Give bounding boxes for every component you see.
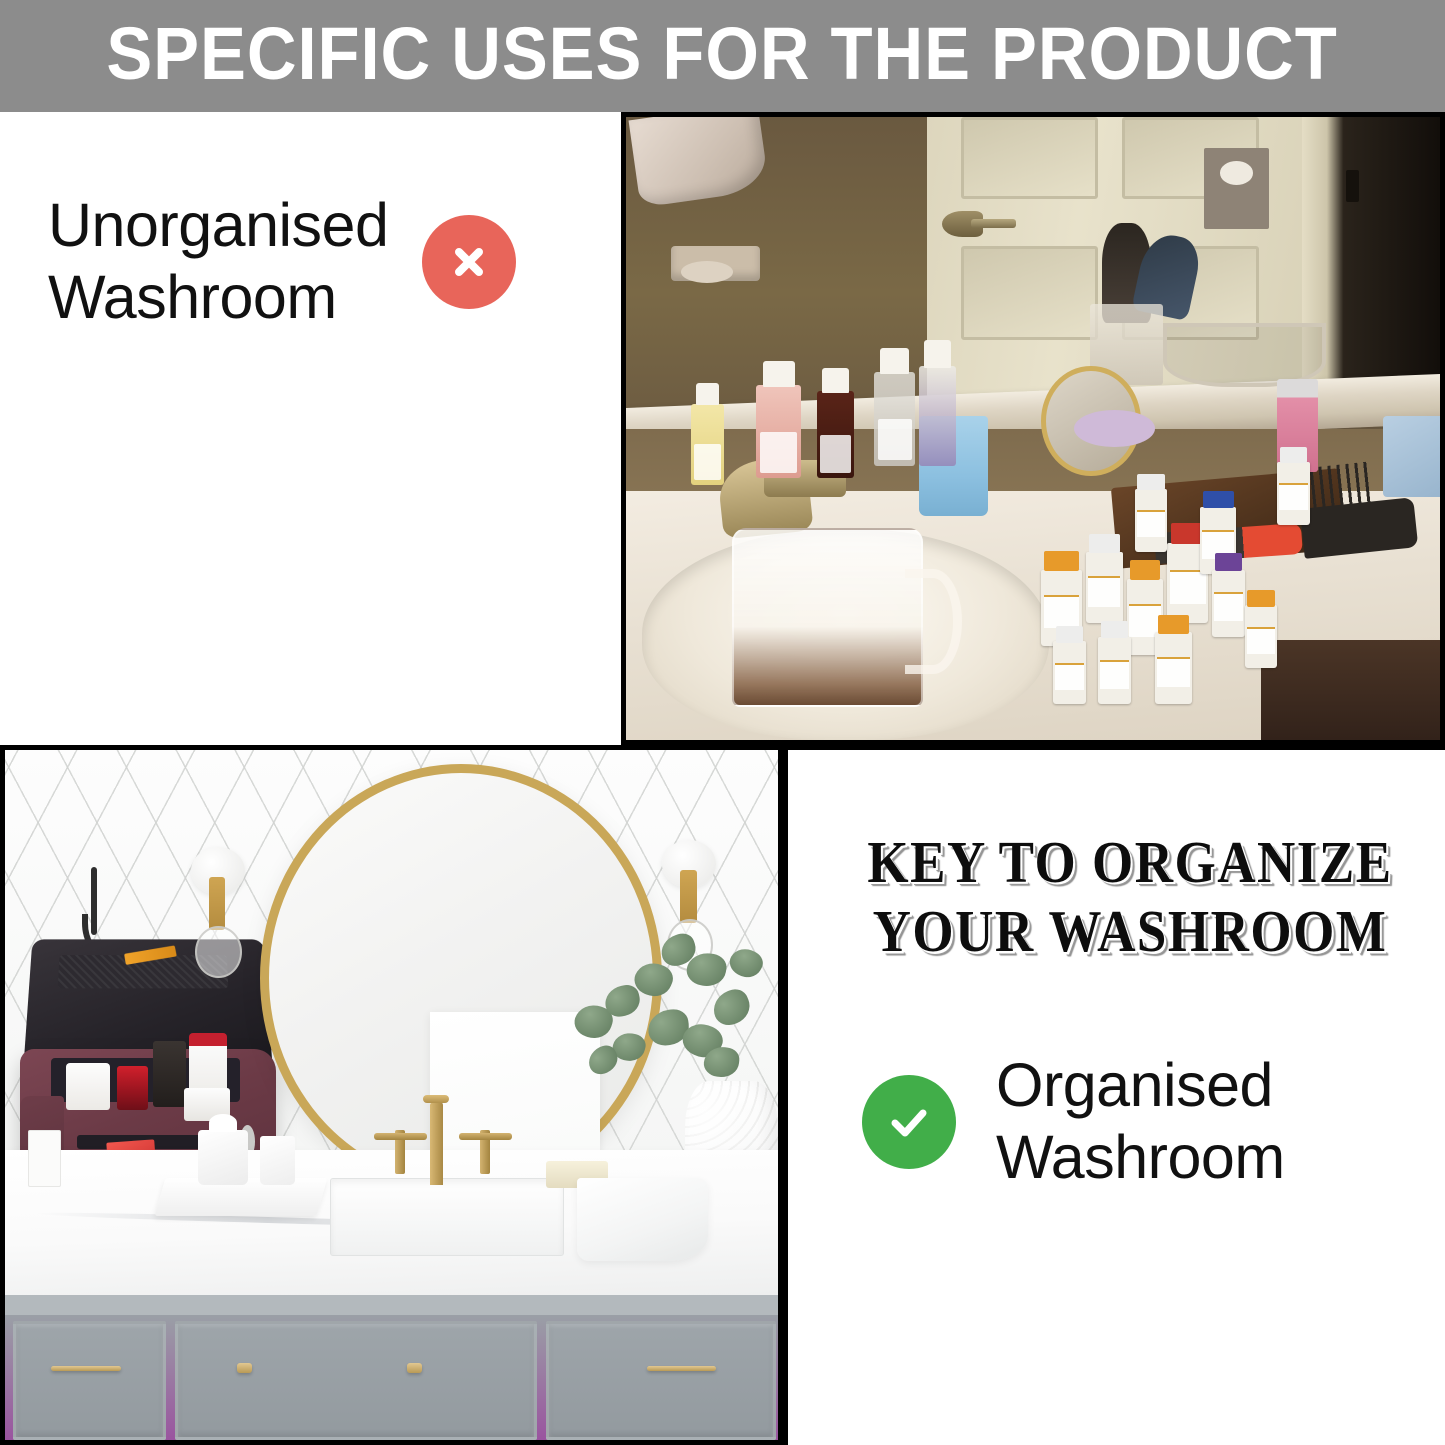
brass-faucet bbox=[430, 1102, 442, 1185]
pill-bottle-cluster bbox=[1033, 291, 1440, 740]
light-bulb-left bbox=[195, 926, 242, 978]
lidded-canister bbox=[198, 1130, 248, 1185]
cross-icon bbox=[446, 239, 492, 285]
door-panel bbox=[961, 117, 1098, 199]
red-cosmetic-jar bbox=[117, 1066, 148, 1110]
banner-title: SPECIFIC USES FOR THE PRODUCT bbox=[107, 17, 1338, 95]
plastic-pitcher bbox=[732, 528, 923, 706]
brass-drawer-pull bbox=[51, 1366, 121, 1371]
toilet-paper-holder bbox=[671, 246, 761, 281]
vanity-top-edge bbox=[5, 1295, 778, 1315]
unorganised-label-block: Unorganised Washroom bbox=[48, 190, 608, 334]
wall-outlet bbox=[1204, 148, 1269, 229]
check-icon bbox=[882, 1095, 936, 1149]
vanity-drawer bbox=[175, 1321, 537, 1440]
faucet-handle-left bbox=[395, 1130, 405, 1175]
ceramic-cup bbox=[260, 1136, 295, 1184]
medicine-bottle bbox=[756, 385, 801, 478]
medicine-bottle bbox=[817, 391, 854, 478]
grey-vanity-cabinet bbox=[5, 1295, 778, 1440]
pill-bottle bbox=[1135, 489, 1168, 552]
medicine-bottle bbox=[874, 372, 915, 465]
door-hinge bbox=[1346, 170, 1359, 202]
key-to-organize-heading: KEY TO ORGANIZE YOUR WASHROOM bbox=[830, 828, 1430, 967]
faucet-handle-right bbox=[480, 1130, 490, 1175]
folded-hand-towel bbox=[577, 1178, 708, 1261]
brass-drawer-pull bbox=[647, 1366, 717, 1371]
pill-bottle bbox=[1212, 570, 1245, 637]
vanity-drawer bbox=[13, 1321, 166, 1440]
organised-label: Organised Washroom bbox=[996, 1050, 1285, 1194]
wall-sconce-left bbox=[191, 847, 245, 895]
organised-label-block: Organised Washroom bbox=[862, 1050, 1285, 1194]
pill-bottle bbox=[1098, 637, 1131, 704]
wall-outlet-plate bbox=[28, 1130, 61, 1187]
check-badge bbox=[862, 1075, 956, 1169]
panel-top-right-photo bbox=[621, 112, 1445, 745]
door-handle bbox=[942, 211, 983, 237]
pill-bottle bbox=[1245, 605, 1278, 668]
header-banner: SPECIFIC USES FOR THE PRODUCT bbox=[0, 0, 1445, 112]
wall-sconce-right bbox=[662, 840, 716, 888]
vanity-drawer bbox=[546, 1321, 776, 1440]
panel-bottom-left-photo bbox=[0, 745, 783, 1445]
soap-dispenser bbox=[919, 366, 956, 466]
pill-bottle bbox=[1086, 552, 1123, 624]
unorganised-label: Unorganised Washroom bbox=[48, 190, 388, 334]
brass-drawer-pull bbox=[407, 1363, 422, 1373]
pill-bottle bbox=[1277, 462, 1310, 525]
infographic-poster: SPECIFIC USES FOR THE PRODUCT Unorganise… bbox=[0, 0, 1445, 1445]
organised-bathroom-photo bbox=[5, 750, 778, 1440]
pill-bottle bbox=[1053, 641, 1086, 704]
cross-badge bbox=[422, 215, 516, 309]
dark-serum-bottle bbox=[153, 1041, 186, 1107]
medicine-bottle bbox=[691, 404, 724, 485]
undermount-sink bbox=[330, 1178, 564, 1256]
messy-bathroom-photo bbox=[626, 117, 1440, 740]
white-tumbler bbox=[66, 1063, 109, 1110]
brass-drawer-pull bbox=[237, 1363, 252, 1373]
pill-bottle bbox=[1155, 632, 1192, 704]
